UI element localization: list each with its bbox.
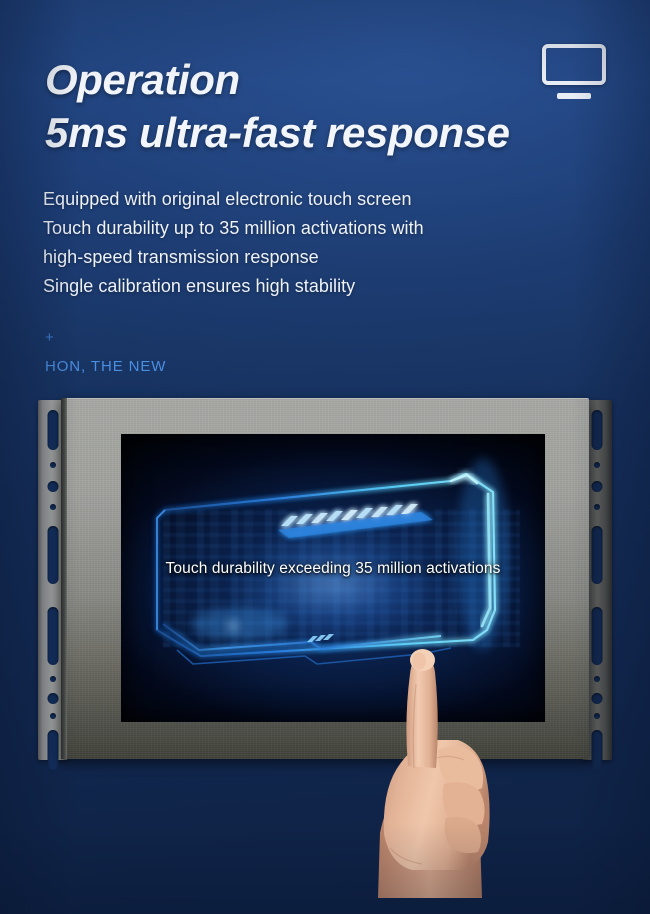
bracket-hole [592,693,603,704]
bracket-slot [592,526,603,584]
feature-line: Equipped with original electronic touch … [43,185,563,214]
bracket-slot [592,607,603,665]
page-title-line-2: 5ms ultra-fast response [45,110,510,156]
bracket-hole [50,504,56,510]
bracket-slot [48,607,59,665]
monitor-icon-stand [557,93,591,99]
feature-description: Equipped with original electronic touch … [43,185,563,301]
open-frame-touch-monitor: Touch durability exceeding 35 million ac… [38,398,612,762]
bracket-slot [48,730,59,770]
promo-page: Operation 5ms ultra-fast response Equipp… [0,0,650,914]
bracket-slot [48,526,59,584]
bracket-hole [50,676,56,682]
brand-block: + HON, THE NEW [45,330,166,375]
bracket-hole [594,676,600,682]
bracket-hole [50,462,56,468]
plus-icon: + [45,330,166,345]
bracket-hole [594,713,600,719]
bracket-hole [50,713,56,719]
feature-line: Single calibration ensures high stabilit… [43,272,563,301]
bracket-slot [592,410,603,450]
bracket-hole [48,693,59,704]
brand-name: HON, THE NEW [45,358,166,375]
screen-caption-text: Touch durability exceeding 35 million ac… [121,560,545,578]
feature-line: high-speed transmission response [43,243,563,272]
bracket-slot [48,410,59,450]
feature-line: Touch durability up to 35 million activa… [43,214,563,243]
monitor-bezel: Touch durability exceeding 35 million ac… [61,398,589,759]
bracket-slot [592,730,603,770]
bracket-hole [48,481,59,492]
bracket-hole [594,504,600,510]
bezel-seam [61,398,67,759]
hud-frame-graphic [121,434,545,722]
monitor-icon-screen [542,44,606,85]
page-title-line-1: Operation [45,57,240,103]
bracket-hole [592,481,603,492]
bracket-hole [594,462,600,468]
touch-screen-display[interactable]: Touch durability exceeding 35 million ac… [121,434,545,722]
monitor-icon [542,44,606,100]
